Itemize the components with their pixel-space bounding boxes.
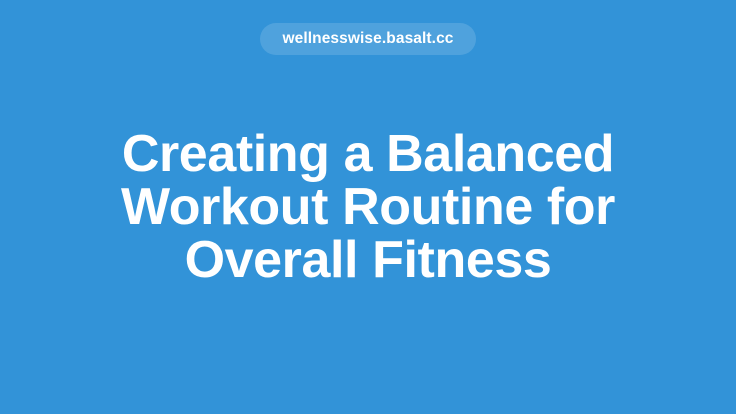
headline-container: Creating a Balanced Workout Routine for … [0,0,736,414]
page-title: Creating a Balanced Workout Routine for … [121,128,615,287]
page-title-line-1: Creating a Balanced [121,128,615,181]
page-title-line-3: Overall Fitness [121,234,615,287]
article-share-card: wellnesswise.basalt.cc Creating a Balanc… [0,0,736,414]
page-title-line-2: Workout Routine for [121,181,615,234]
